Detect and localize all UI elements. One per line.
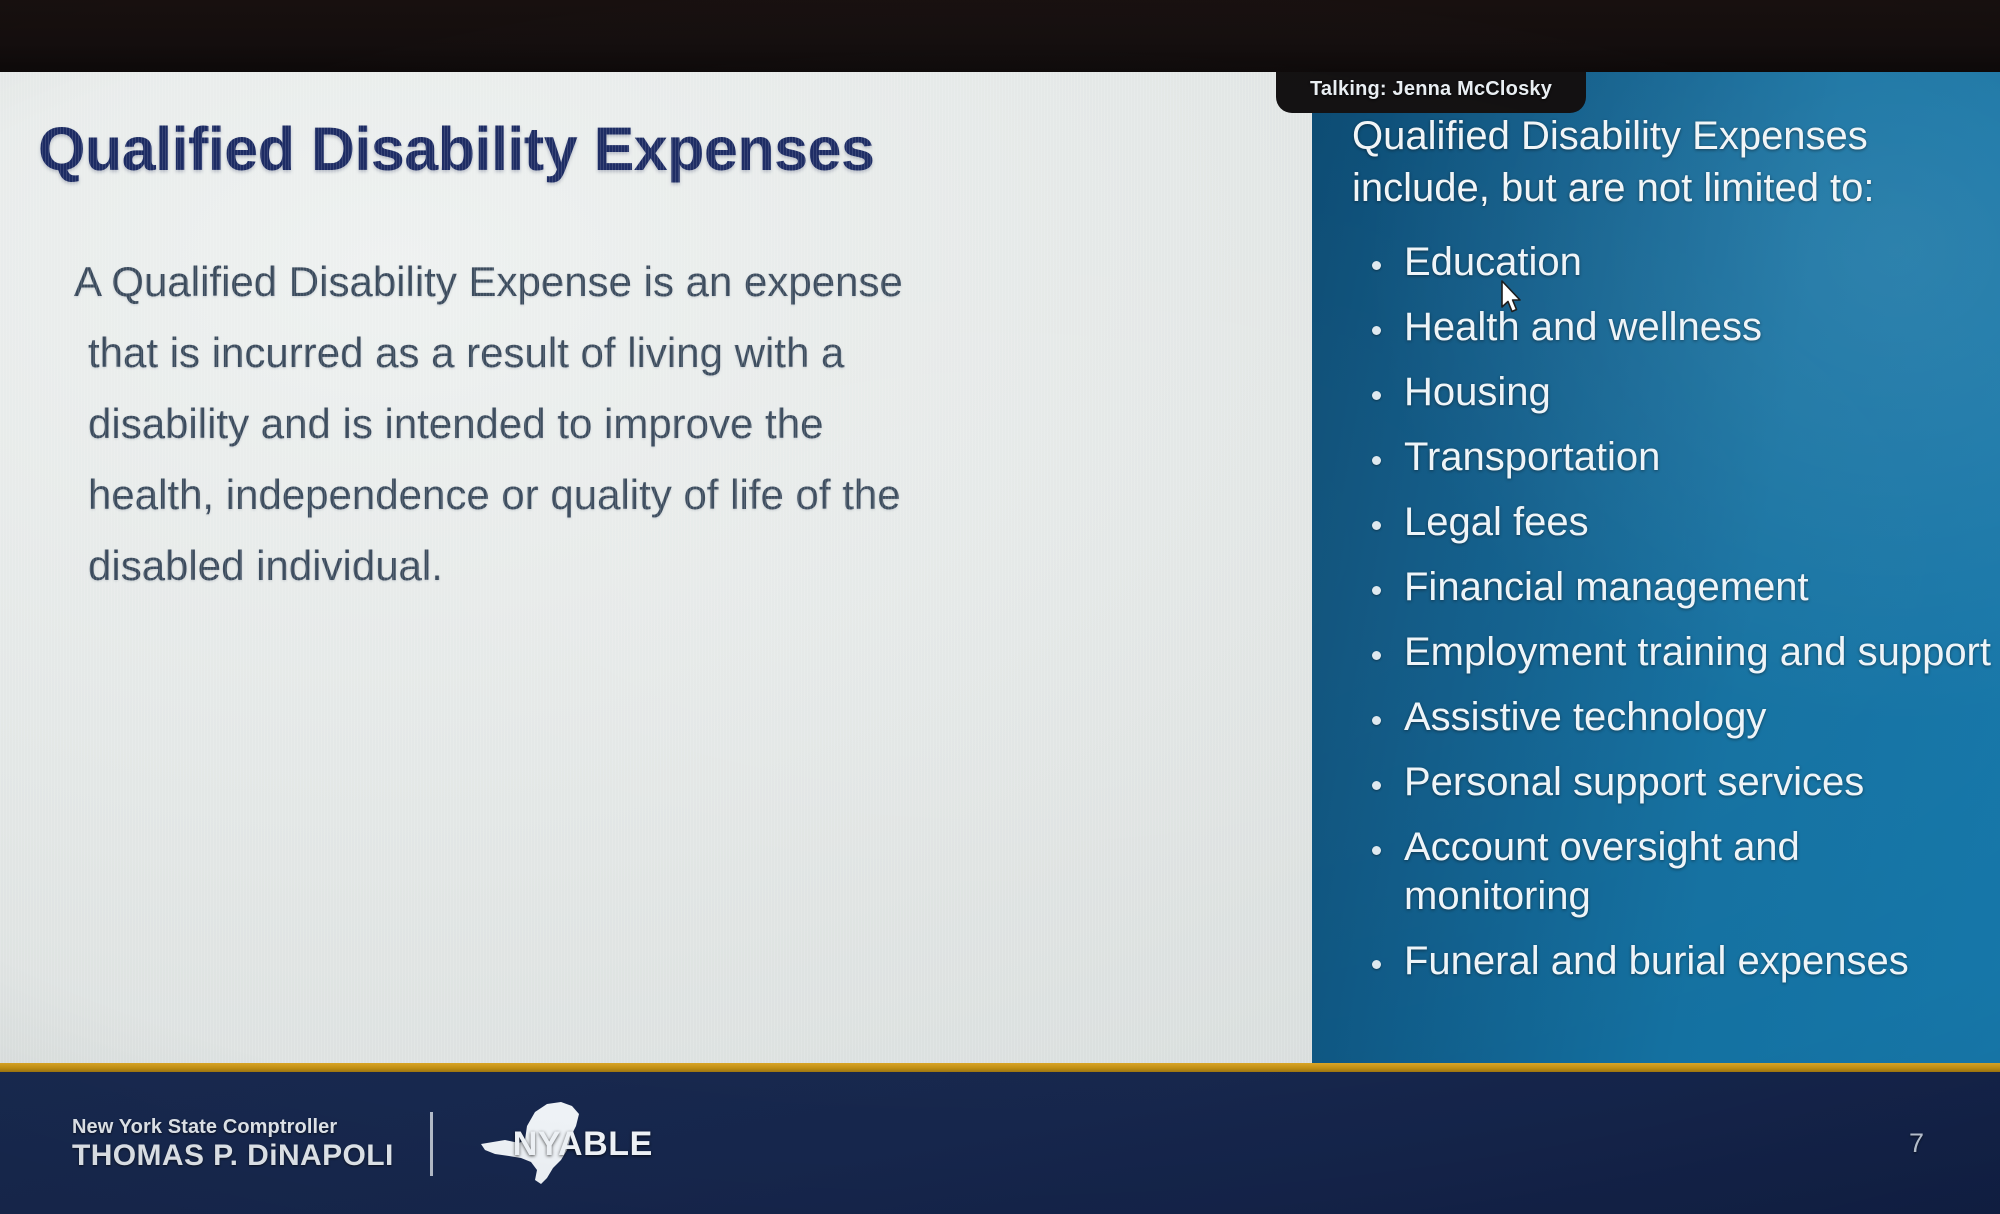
list-item: Account oversight and monitoring [1352, 823, 1992, 921]
list-item: Funeral and burial expenses [1352, 937, 1992, 986]
list-item: Personal support services [1352, 758, 1992, 807]
comptroller-name-label: THOMAS P. DiNAPOLI [72, 1141, 394, 1171]
page-title: Qualified Disability Expenses [38, 114, 1218, 184]
body-line: that is incurred as a result of living w… [88, 317, 1208, 388]
list-item: Transportation [1352, 433, 1992, 482]
body-line: disabled individual. [88, 530, 1208, 601]
body-line: health, independence or quality of life … [88, 459, 1208, 530]
comptroller-logo: New York State Comptroller THOMAS P. DiN… [72, 1104, 653, 1184]
panel-intro-text: Qualified Disability Expenses include, b… [1352, 110, 1972, 214]
nyable-logo: NYABLE [467, 1104, 653, 1184]
list-item: Health and wellness [1352, 303, 1992, 352]
slide-footer: New York State Comptroller THOMAS P. DiN… [0, 1072, 2000, 1214]
photographed-screen-frame: Qualified Disability Expenses A Qualifie… [0, 0, 2000, 1214]
logo-divider [430, 1112, 433, 1176]
list-item: Financial management [1352, 563, 1992, 612]
talking-speaker-badge: Talking: Jenna McClosky [1276, 72, 1586, 113]
body-line: disability and is intended to improve th… [88, 388, 1208, 459]
slide-page-number: 7 [1909, 1128, 1924, 1159]
nyable-wordmark: NYABLE [513, 1125, 653, 1164]
list-item: Employment training and support [1352, 628, 1992, 677]
list-item: Housing [1352, 368, 1992, 417]
list-item: Education [1352, 238, 1992, 287]
slide-body-text: A Qualified Disability Expense is an exp… [88, 246, 1208, 601]
slide-left-content-panel: Qualified Disability Expenses A Qualifie… [0, 72, 1312, 1063]
gold-divider [0, 1063, 2000, 1072]
qualified-expenses-bullet-list: Education Health and wellness Housing Tr… [1352, 238, 1992, 1002]
list-item: Legal fees [1352, 498, 1992, 547]
top-dark-border [0, 0, 2000, 72]
comptroller-text-block: New York State Comptroller THOMAS P. DiN… [72, 1117, 394, 1171]
comptroller-office-label: New York State Comptroller [72, 1117, 394, 1137]
slide-right-blue-panel: Qualified Disability Expenses include, b… [1312, 72, 2000, 1063]
list-item: Assistive technology [1352, 693, 1992, 742]
presentation-slide: Qualified Disability Expenses A Qualifie… [0, 72, 2000, 1214]
body-line: A Qualified Disability Expense is an exp… [88, 246, 1208, 317]
